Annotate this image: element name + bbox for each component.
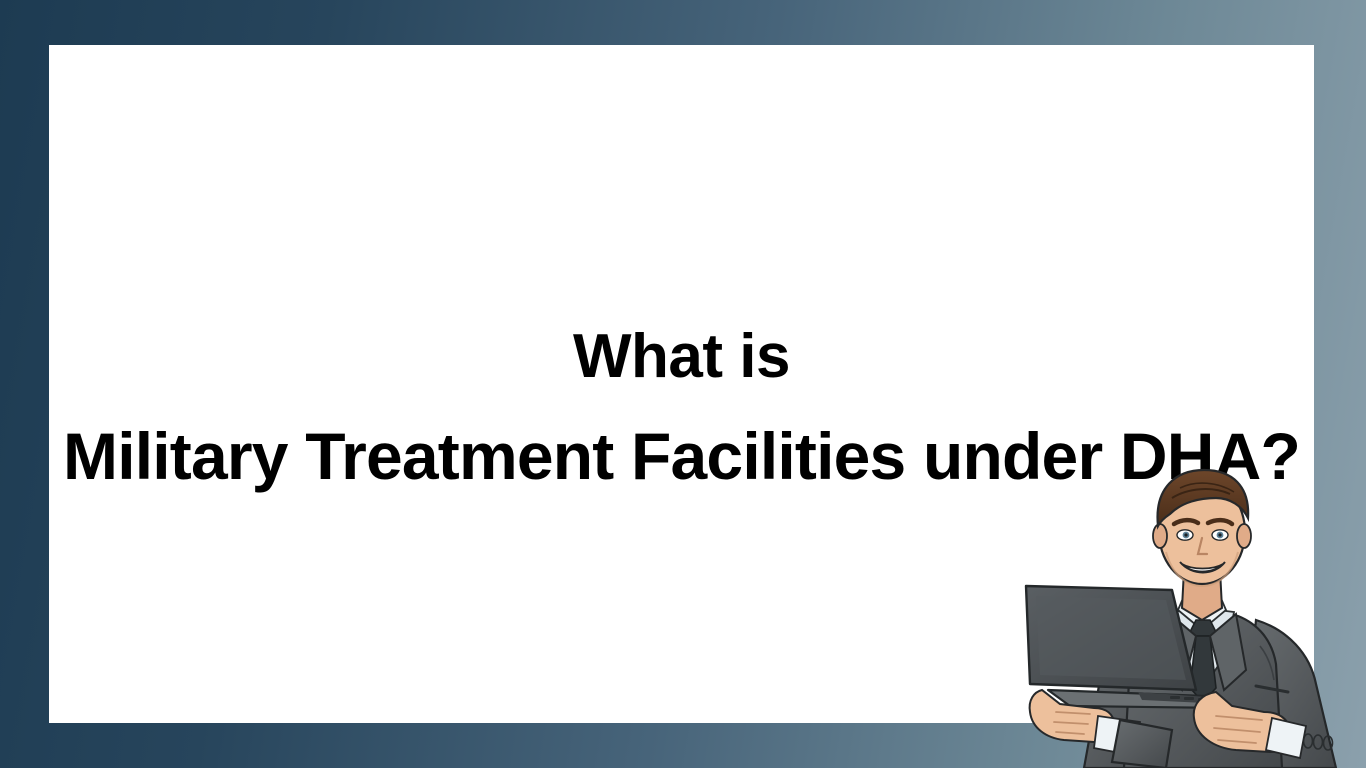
- title-line-1: What is: [49, 326, 1314, 388]
- content-panel: What is Military Treatment Facilities un…: [49, 45, 1314, 723]
- title-line-2: Military Treatment Facilities under DHA?: [49, 423, 1314, 489]
- slide-canvas: What is Military Treatment Facilities un…: [0, 0, 1366, 768]
